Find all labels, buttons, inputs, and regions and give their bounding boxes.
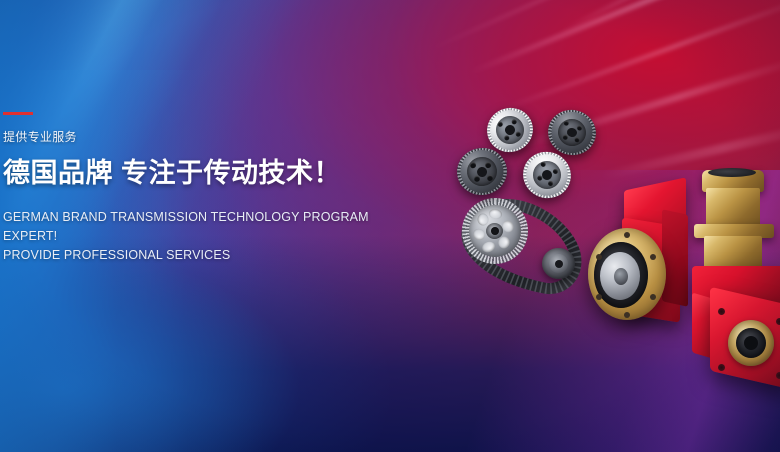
subtitle-line-1: GERMAN BRAND TRANSMISSION TECHNOLOGY PRO… [3,210,369,243]
accent-rule [3,112,33,115]
headline-text: 德国品牌 专注于传动技术！ [3,157,423,190]
kicker-text: 提供专业服务 [3,130,423,144]
hero-banner: 提供专业服务 德国品牌 专注于传动技术！ GERMAN BRAND TRANSM… [0,0,780,452]
banner-copy: 提供专业服务 德国品牌 专注于传动技术！ GERMAN BRAND TRANSM… [3,112,423,265]
subtitle-block: GERMAN BRAND TRANSMISSION TECHNOLOGY PRO… [3,208,423,265]
subtitle-line-2: PROVIDE PROFESSIONAL SERVICES [3,246,423,265]
